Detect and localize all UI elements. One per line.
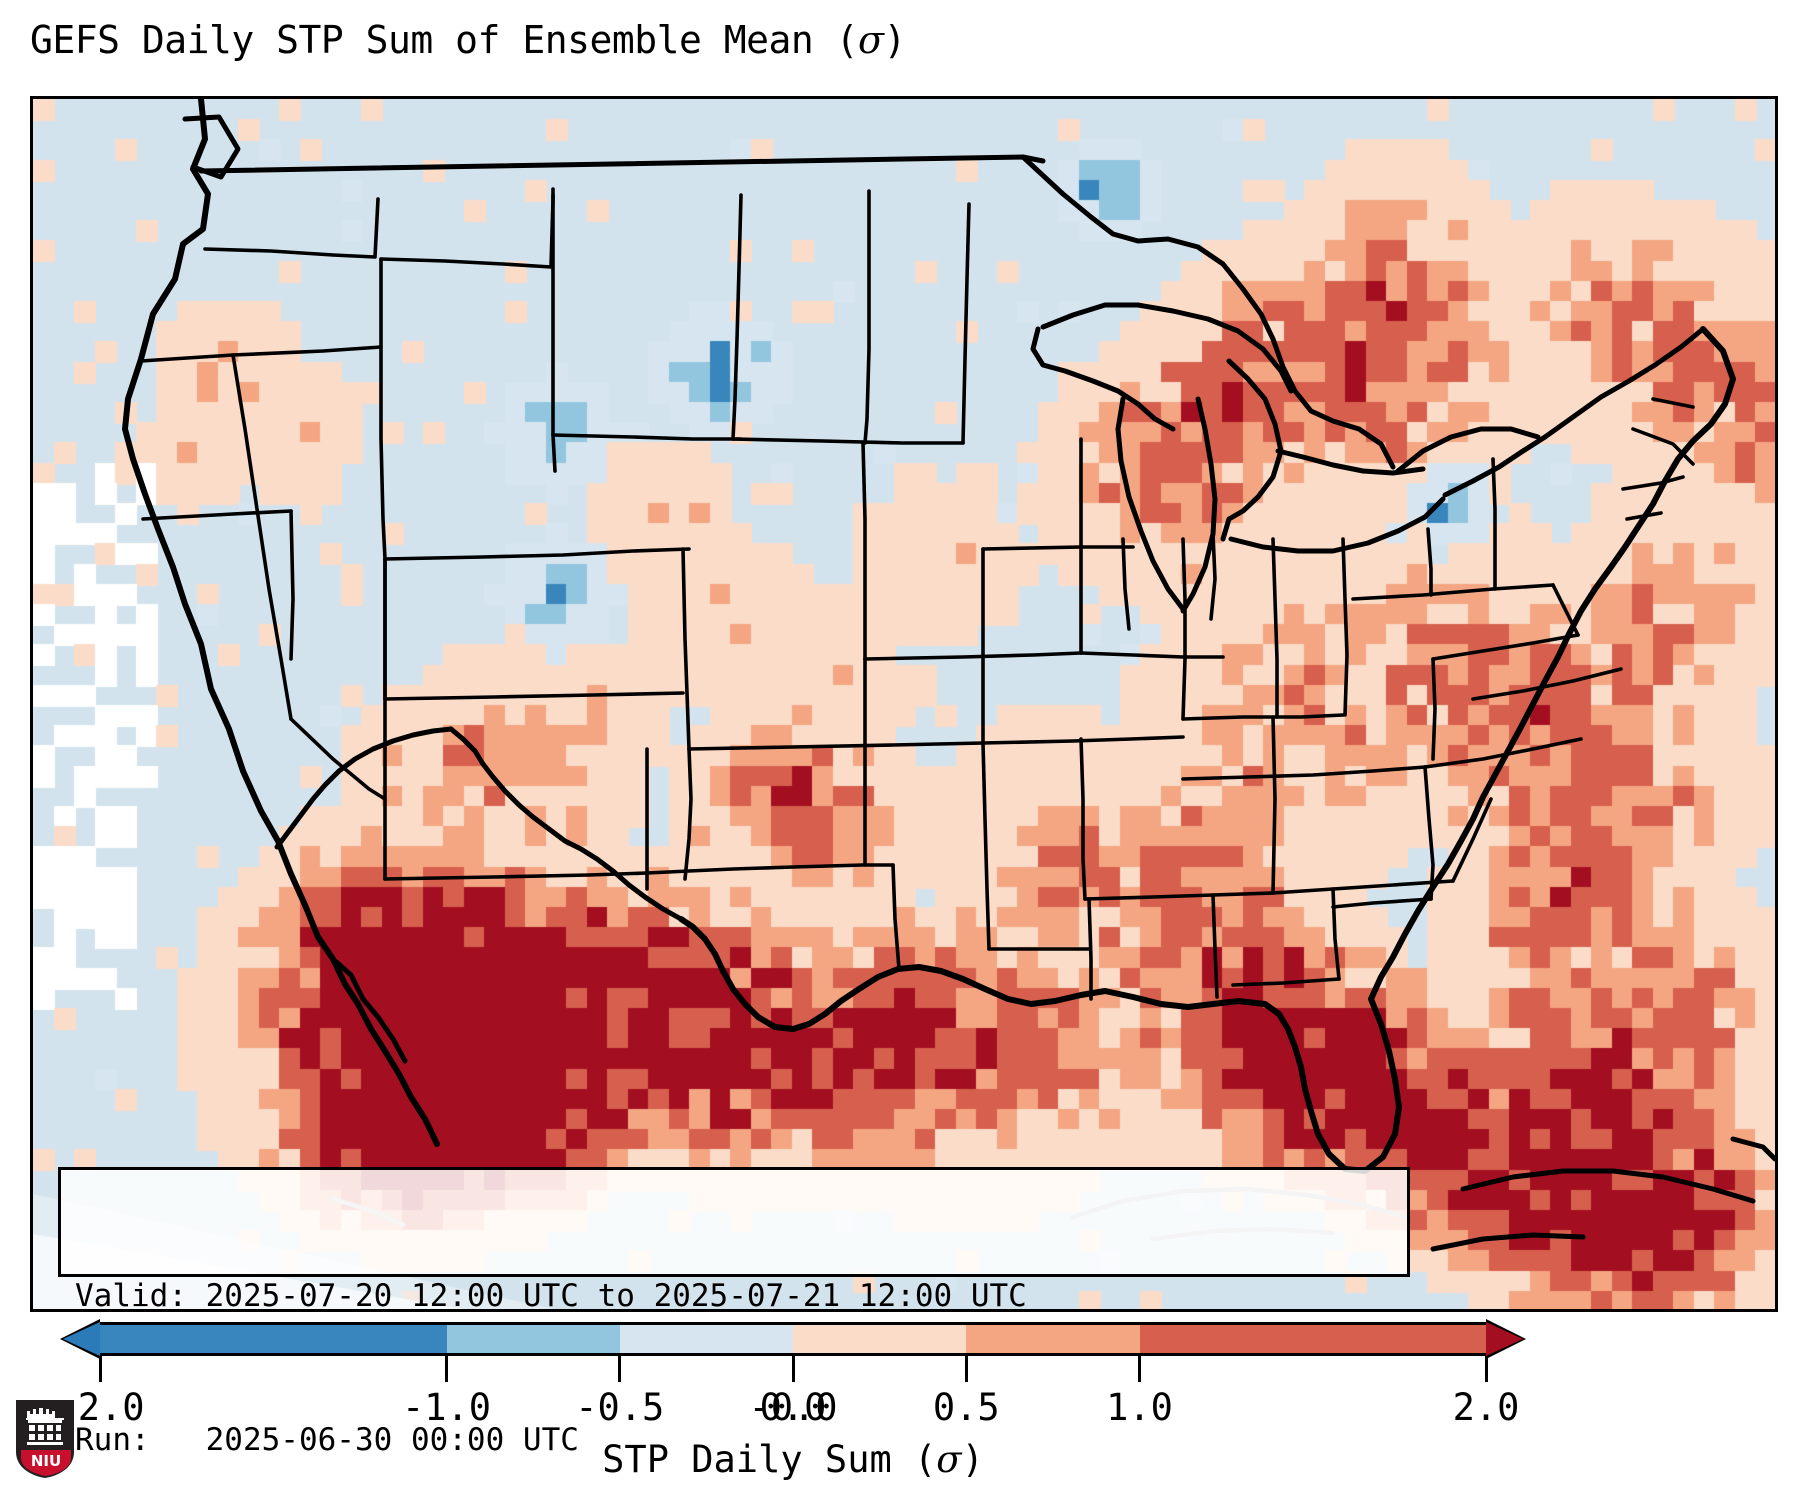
colorbar-tick [445, 1356, 448, 1382]
valid-time-line: Valid: 2025-07-20 12:00 UTC to 2025-07-2… [75, 1272, 1393, 1320]
map-outline [1633, 429, 1693, 464]
forecast-info-box: Valid: 2025-07-20 12:00 UTC to 2025-07-2… [58, 1167, 1410, 1277]
map-outline [647, 865, 893, 873]
map-outline [385, 549, 689, 559]
map-outline [1223, 361, 1281, 539]
map-outline [1273, 539, 1277, 717]
colorbar-extend-low-arrow [63, 1322, 100, 1356]
map-outline [1089, 899, 1091, 999]
colorbar-segment [1140, 1325, 1487, 1353]
map-outline [385, 693, 683, 699]
map-outline [333, 959, 405, 1061]
page-title-suffix: ) [883, 18, 905, 62]
map-outline [893, 865, 899, 969]
colorbar-tick [965, 1356, 968, 1382]
colorbar-segment [100, 1325, 447, 1353]
colorbar-tick-label: 1.0 [1106, 1386, 1173, 1429]
map-outline [381, 347, 385, 559]
colorbar-axis-label: STP Daily Sum (σ) [0, 1438, 1586, 1481]
colorbar-tick-label: 2.0 [1453, 1386, 1520, 1429]
map-outline [1398, 429, 1538, 471]
map-outline [1623, 477, 1683, 489]
map-outline [1333, 899, 1431, 907]
map-outline [1333, 889, 1339, 979]
map-outline [277, 729, 451, 847]
colorbar-extend-high-arrow [1486, 1322, 1523, 1356]
map-outline [1085, 893, 1273, 899]
map-outline [1183, 767, 1425, 779]
map-outline [143, 511, 291, 519]
map-outline [1733, 1139, 1775, 1159]
map-outline [1425, 767, 1433, 899]
map-outline [1183, 399, 1215, 611]
map-outline [1493, 459, 1495, 589]
colorbar-axis-label-suffix: ) [962, 1438, 984, 1481]
map-outline [1183, 539, 1185, 719]
map-outline [865, 191, 869, 443]
map-outline [1343, 539, 1347, 715]
colorbar-tick-label: 0.5 [933, 1386, 1000, 1429]
colorbar-axis-label-text: STP Daily Sum ( [602, 1438, 936, 1481]
map-outline [689, 743, 983, 749]
map-outline [1545, 329, 1703, 437]
map-outline [1273, 717, 1275, 893]
colorbar-tick [792, 1356, 795, 1382]
map-outline [1653, 399, 1693, 407]
map-outline [1353, 585, 1553, 599]
colorbar-tick-label: 0.0 [760, 1386, 827, 1429]
map-outline [1231, 499, 1443, 551]
map-outline [983, 737, 1183, 743]
sigma-symbol: σ [858, 18, 883, 62]
map-outline [733, 195, 741, 439]
map-geography-layer [33, 99, 1775, 1309]
map-outline [681, 919, 793, 1029]
map-outline [185, 117, 238, 177]
map-outline [963, 204, 969, 443]
map-outline [1433, 659, 1435, 759]
map-outline [683, 549, 689, 749]
map-outline [385, 873, 647, 879]
colorbar-tick-label: -1.0 [402, 1386, 491, 1429]
map-outline [125, 99, 358, 1004]
colorbar-gradient [100, 1322, 1486, 1356]
map-outline [1428, 529, 1431, 595]
map-outline [1123, 539, 1129, 629]
map-outline [1033, 329, 1173, 429]
colorbar-tick-label: -0.5 [575, 1386, 664, 1429]
map-outline [381, 189, 553, 267]
map-outline [553, 435, 741, 439]
colorbar-segment [793, 1325, 966, 1353]
map-outline [1433, 1235, 1583, 1249]
niu-logo: NIU [14, 1398, 76, 1480]
colorbar-tick [618, 1356, 621, 1382]
map-outline [1553, 585, 1578, 635]
map-outline [1081, 739, 1085, 899]
map-outline [1463, 1171, 1753, 1201]
map-plot-area [30, 96, 1778, 1312]
map-outline [553, 195, 555, 471]
niu-logo-text: NIU [31, 1452, 61, 1470]
colorbar-tick [1485, 1356, 1488, 1382]
map-outline [291, 719, 385, 799]
colorbar-tick [1138, 1356, 1141, 1382]
map-outline [201, 157, 1043, 171]
map-outline [1213, 895, 1217, 997]
map-outline [205, 199, 378, 257]
map-outline [233, 355, 291, 719]
map-outline [733, 439, 963, 443]
map-outline [1183, 715, 1343, 719]
colorbar[interactable] [63, 1322, 1523, 1356]
map-outline [1081, 653, 1223, 657]
colorbar-tick [99, 1356, 102, 1382]
map-outline [865, 653, 1081, 659]
map-outline [1233, 979, 1339, 985]
map-outline [1273, 881, 1453, 893]
map-outline [793, 967, 1265, 1029]
colorbar-segment [447, 1325, 620, 1353]
page-title: GEFS Daily STP Sum of Ensemble Mean (σ) [30, 18, 906, 62]
page-title-text: GEFS Daily STP Sum of Ensemble Mean ( [30, 18, 858, 62]
map-outline [983, 743, 989, 949]
colorbar-sigma-symbol: σ [936, 1438, 961, 1481]
colorbar-segment [620, 1325, 793, 1353]
map-outline [685, 749, 691, 879]
map-outline [291, 511, 293, 659]
colorbar-segment [966, 1325, 1139, 1353]
map-outline [1265, 999, 1399, 1171]
map-outline [358, 1004, 437, 1144]
map-outline [983, 547, 1133, 549]
map-outline [863, 443, 865, 659]
